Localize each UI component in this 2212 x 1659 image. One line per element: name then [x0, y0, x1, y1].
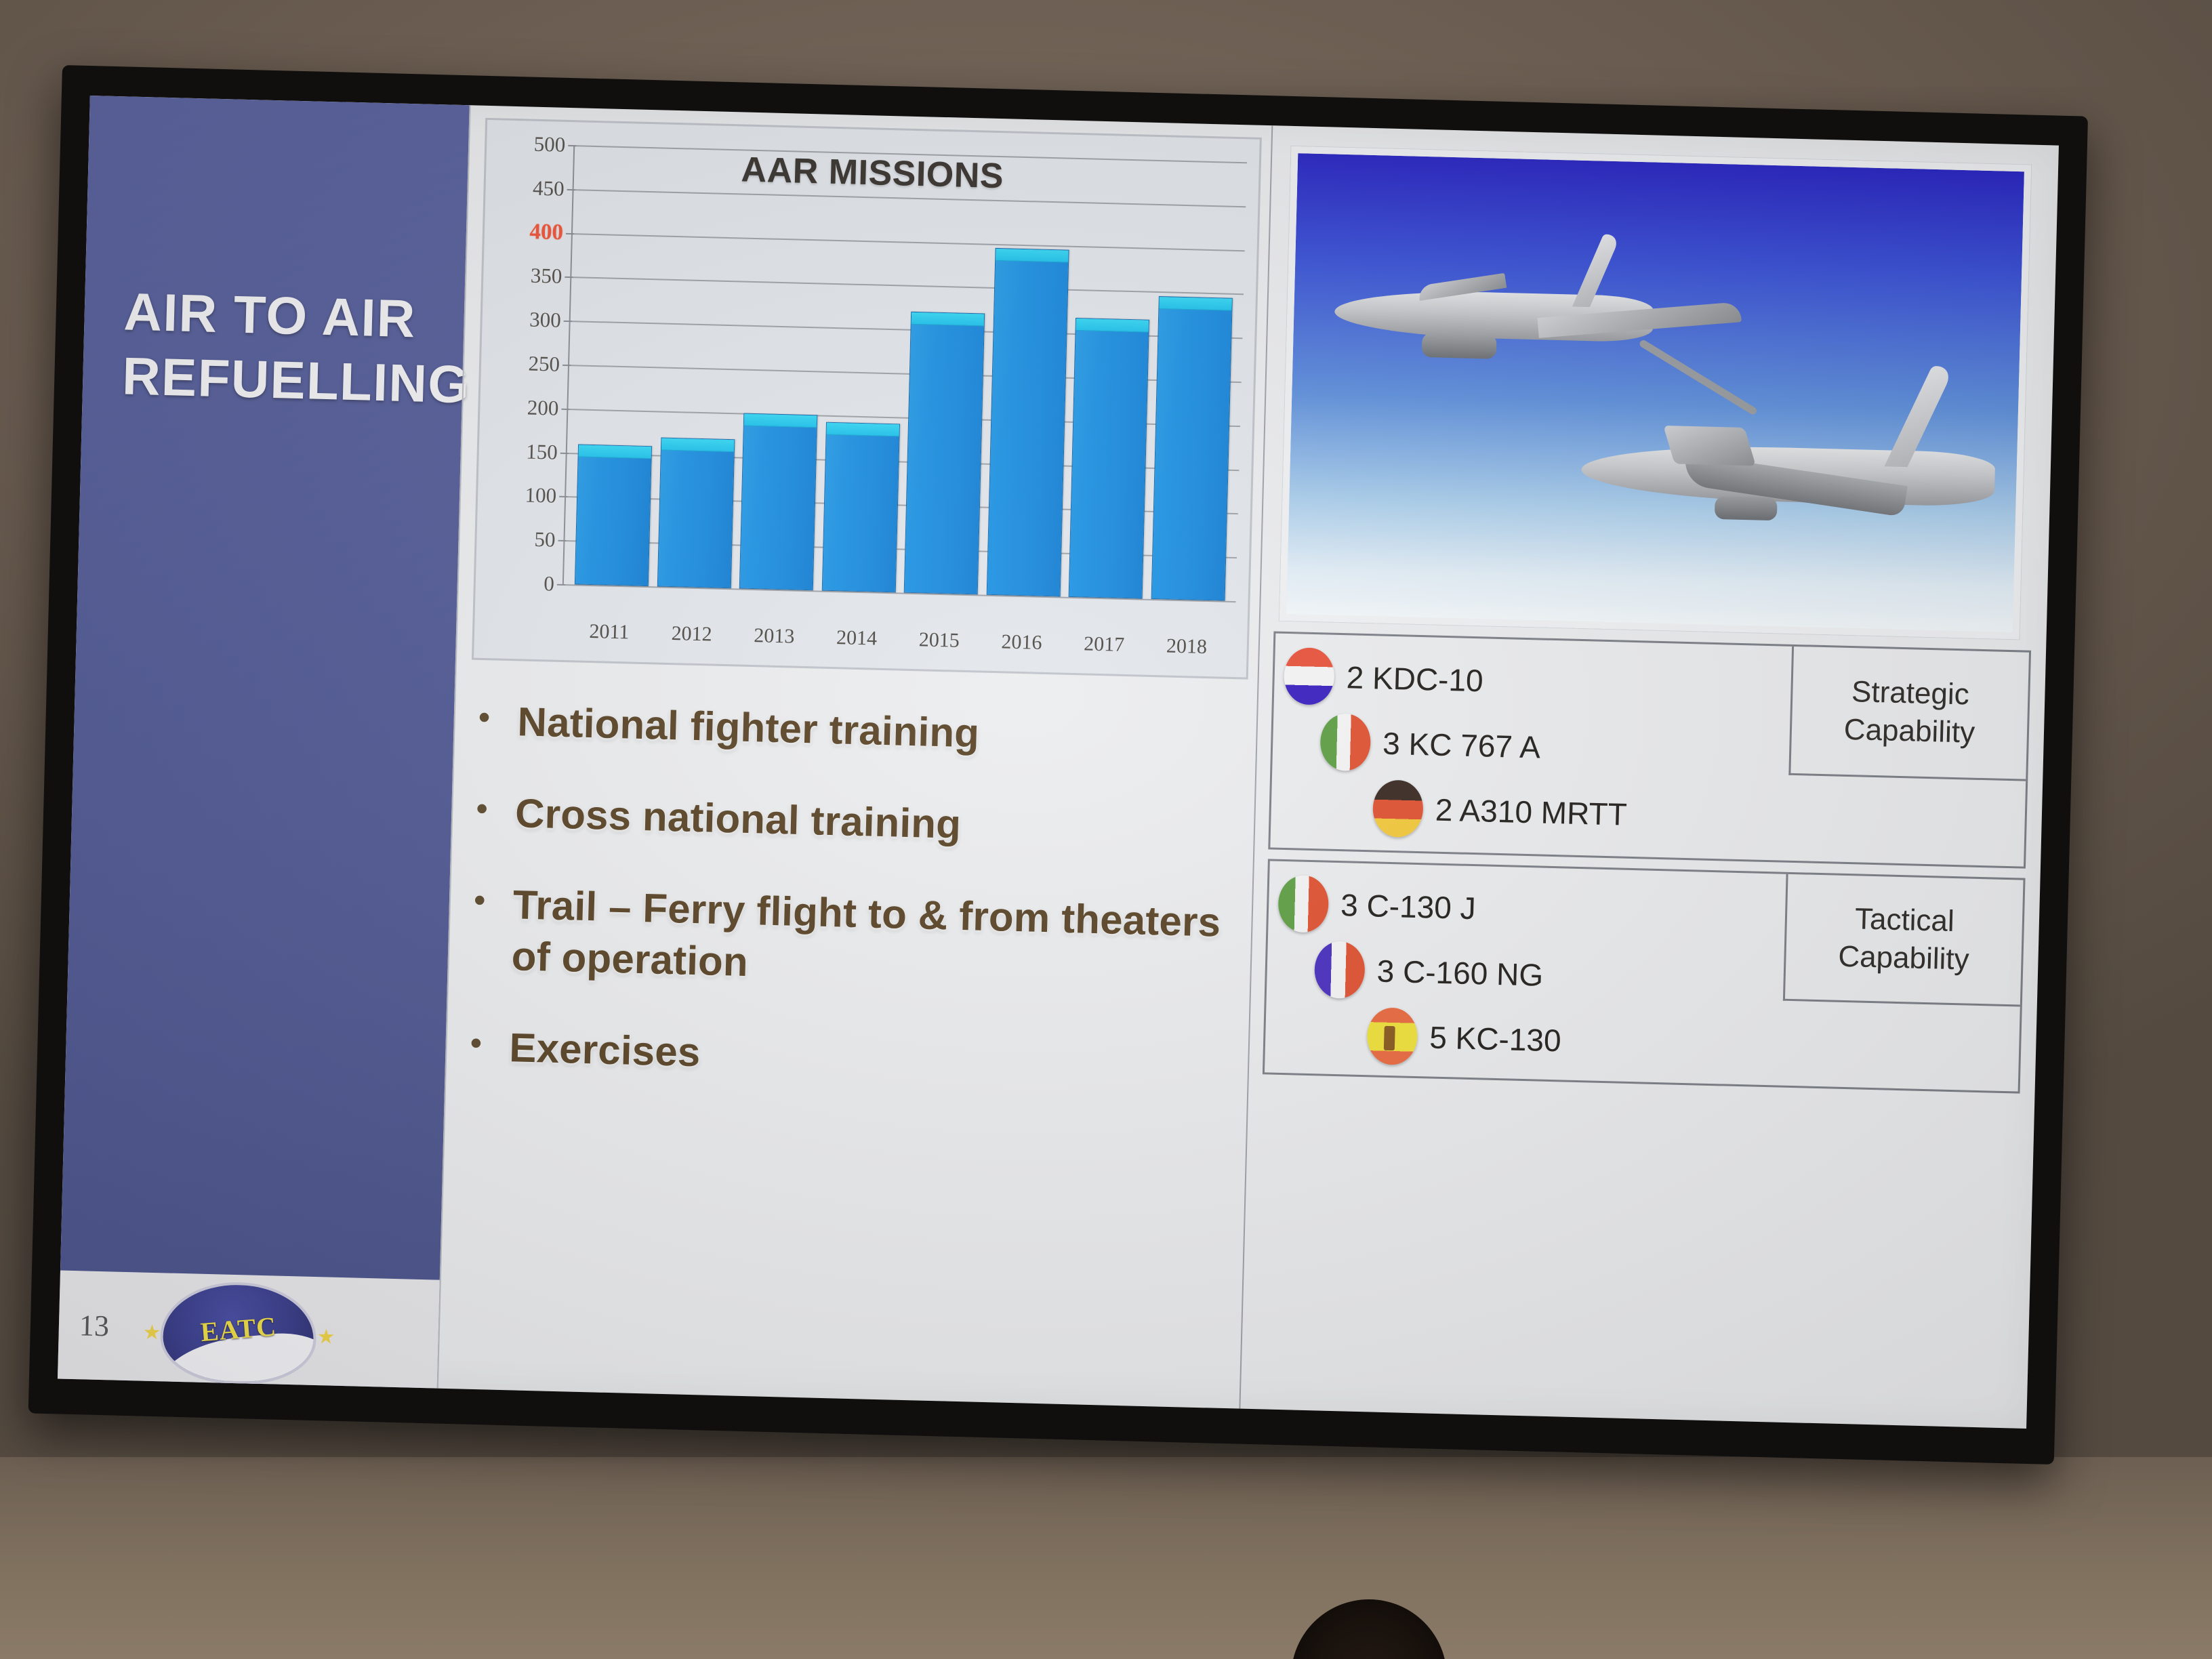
chart-x-tick-label: 2016 — [985, 630, 1059, 655]
receiver-aircraft — [1580, 384, 2031, 552]
chart-plot — [562, 145, 1247, 601]
spain-flag-icon — [1366, 1007, 1418, 1065]
tactical-capability-label: Tactical Capability — [1783, 874, 2024, 1007]
eatc-logo: ★ ★ EATC — [132, 1275, 352, 1382]
france-flag-icon — [1314, 941, 1366, 999]
tactical-capability-block: Tactical Capability 3 C-130 J3 C-160 NG5… — [1263, 859, 2026, 1093]
fleet-row-label: 3 KC 767 A — [1382, 725, 1541, 766]
strategic-capability-block: Strategic Capability 2 KDC-103 KC 767 A2… — [1268, 631, 2031, 868]
italy-flag-icon — [1277, 875, 1329, 933]
chart-bar — [575, 444, 652, 586]
page-number: 13 — [58, 1307, 134, 1344]
projection-screen: AIR TO AIR REFUELLING 13 ★ ★ EATC AAR MI… — [28, 65, 2088, 1465]
chart-bar-slot — [657, 148, 742, 589]
chart-y-tick-label: 100 — [525, 483, 556, 508]
chart-bar-slot — [575, 146, 659, 587]
page-title: AIR TO AIR REFUELLING — [82, 96, 469, 417]
chart-y-tick-label: 450 — [533, 176, 565, 201]
chart-y-tick-label: 250 — [528, 352, 560, 377]
strategic-capability-label-line2: Capability — [1843, 711, 1975, 752]
chart-bars — [564, 145, 1247, 601]
chart-bar — [1069, 318, 1149, 599]
chart-x-tick-label: 2017 — [1067, 632, 1141, 657]
chart-bar-slot — [986, 156, 1071, 597]
chart-x-tick-label: 2012 — [655, 621, 729, 647]
fleet-row: 5 KC-130 — [1265, 1004, 2020, 1080]
room-wall-lower — [0, 1457, 2212, 1659]
slide-center-column: AAR MISSIONS 500450400350300250200150100… — [437, 105, 1273, 1408]
fleet-row-label: 3 C-130 J — [1340, 886, 1477, 926]
list-item: •National fighter training — [478, 695, 1240, 766]
chart-x-tick-label: 2018 — [1149, 634, 1224, 659]
fleet-row: 2 A310 MRTT — [1271, 777, 2026, 853]
netherlands-flag-icon — [1284, 647, 1335, 705]
tanker-aircraft — [1333, 236, 1716, 381]
tactical-capability-label-line1: Tactical — [1854, 900, 1954, 941]
slide-footer: 13 ★ ★ EATC — [58, 1270, 440, 1388]
bullet-list: •National fighter training•Cross nationa… — [438, 659, 1258, 1409]
chart-y-tick-label: 500 — [533, 132, 565, 157]
slide-right-column: Strategic Capability 2 KDC-103 KC 767 A2… — [1240, 125, 2059, 1429]
bullet-text: Trail – Ferry flight to & from theaters … — [511, 879, 1235, 1001]
bullet-dot-icon: • — [476, 787, 516, 827]
strategic-capability-label: Strategic Capability — [1788, 647, 2029, 781]
chart-bar-slot — [904, 154, 989, 595]
chart-bar-slot — [1069, 158, 1153, 599]
chart-x-axis-labels: 20112012201320142015201620172018 — [561, 619, 1235, 659]
chart-bar — [904, 312, 985, 594]
tactical-capability-label-line2: Capability — [1838, 938, 1970, 979]
fleet-row-label: 3 C-160 NG — [1376, 953, 1544, 994]
chart-y-tick-label: 150 — [526, 439, 558, 464]
list-item: •Exercises — [470, 1021, 1231, 1092]
chart-plot-area: 500450400350300250200150100500 — [489, 143, 1247, 601]
chart-bar — [1151, 296, 1232, 601]
tanker-engine — [1422, 333, 1497, 359]
germany-flag-icon — [1372, 779, 1424, 838]
list-item: •Cross national training — [475, 787, 1237, 858]
chart-bar — [739, 413, 817, 590]
chart-y-tick-label: 300 — [529, 308, 561, 333]
presentation-slide: AIR TO AIR REFUELLING 13 ★ ★ EATC AAR MI… — [58, 96, 2059, 1429]
chart-bar — [822, 422, 900, 593]
chart-x-tick-label: 2014 — [819, 626, 894, 651]
fleet-row-label: 2 KDC-10 — [1346, 659, 1483, 699]
chart-y-tick-label: 350 — [530, 264, 562, 289]
bullet-text: National fighter training — [517, 696, 980, 760]
chart-y-axis: 500450400350300250200150100500 — [489, 143, 573, 584]
receiver-upper-wing — [1663, 426, 1756, 466]
list-item: •Trail – Ferry flight to & from theaters… — [472, 878, 1235, 1001]
chart-bar — [657, 437, 735, 588]
bullet-text: Cross national training — [514, 787, 962, 851]
italy-flag-icon — [1319, 713, 1371, 771]
bullet-text: Exercises — [509, 1022, 701, 1079]
chart-bar-slot — [739, 150, 824, 591]
strategic-capability-label-line1: Strategic — [1851, 673, 1969, 714]
receiver-engine — [1715, 496, 1778, 520]
aar-missions-chart: AAR MISSIONS 500450400350300250200150100… — [472, 118, 1262, 680]
star-icon: ★ — [316, 1325, 335, 1349]
chart-y-tick-label: 200 — [527, 395, 558, 420]
bullet-dot-icon: • — [473, 878, 513, 918]
chart-y-tick-label: 0 — [544, 571, 554, 596]
chart-bar — [986, 248, 1069, 596]
aerial-refuelling-photo — [1279, 146, 2031, 639]
chart-x-tick-label: 2011 — [572, 619, 647, 644]
logo-text: EATC — [199, 1311, 278, 1349]
chart-bar-slot — [822, 152, 907, 593]
chart-x-tick-label: 2013 — [737, 623, 811, 649]
chart-x-tick-label: 2015 — [902, 628, 977, 653]
bullet-dot-icon: • — [470, 1021, 510, 1062]
chart-y-tick-label: 400 — [529, 220, 563, 245]
logo-shield: EATC — [159, 1280, 318, 1386]
bullet-dot-icon: • — [478, 695, 518, 736]
chart-bar-slot — [1151, 160, 1235, 601]
star-icon: ★ — [142, 1321, 161, 1345]
chart-y-tick-label: 50 — [534, 527, 556, 552]
slide-sidebar: AIR TO AIR REFUELLING 13 ★ ★ EATC — [58, 96, 470, 1389]
fleet-row-label: 2 A310 MRTT — [1435, 792, 1627, 833]
fleet-row-label: 5 KC-130 — [1429, 1019, 1562, 1059]
